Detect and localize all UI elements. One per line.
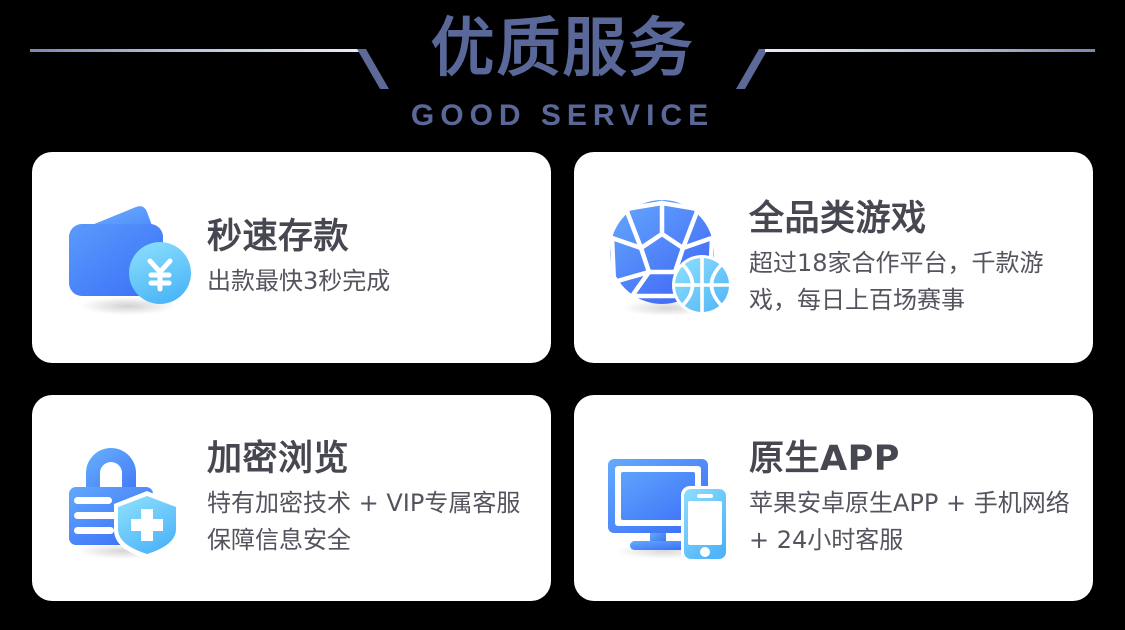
feature-card-subtitle: 出款最快3秒完成: [207, 263, 533, 300]
feature-card-encrypted-browsing[interactable]: 加密浏览 特有加密技术 + VIP专属客服保障信息安全: [32, 395, 551, 601]
feature-card-text: 加密浏览 特有加密技术 + VIP专属客服保障信息安全: [195, 437, 533, 559]
lock-shield-icon: [60, 431, 195, 566]
page-title: 优质服务: [0, 8, 1125, 90]
feature-card-grid: 秒速存款 出款最快3秒完成: [32, 152, 1093, 601]
feature-card-text: 全品类游戏 超过18家合作平台，千款游戏，每日上百场赛事: [737, 197, 1075, 319]
feature-card-title: 全品类游戏: [749, 197, 1075, 241]
monitor-phone-icon: [602, 431, 737, 566]
feature-card-native-app[interactable]: 原生APP 苹果安卓原生APP + 手机网络 + 24小时客服: [574, 395, 1093, 601]
page-header: 优质服务 GOOD SERVICE: [0, 0, 1125, 148]
feature-card-instant-deposit[interactable]: 秒速存款 出款最快3秒完成: [32, 152, 551, 363]
feature-card-subtitle: 特有加密技术 + VIP专属客服保障信息安全: [207, 485, 533, 559]
feature-card-title: 秒速存款: [207, 215, 533, 259]
feature-card-title: 原生APP: [749, 437, 1075, 481]
feature-card-subtitle: 苹果安卓原生APP + 手机网络 + 24小时客服: [749, 485, 1075, 559]
feature-card-title: 加密浏览: [207, 437, 533, 481]
feature-card-all-category-games[interactable]: 全品类游戏 超过18家合作平台，千款游戏，每日上百场赛事: [574, 152, 1093, 363]
feature-card-text: 秒速存款 出款最快3秒完成: [195, 215, 533, 300]
feature-card-subtitle: 超过18家合作平台，千款游戏，每日上百场赛事: [749, 245, 1075, 319]
wallet-yen-icon: [60, 190, 195, 325]
soccer-basketball-icon: [602, 190, 737, 325]
feature-card-text: 原生APP 苹果安卓原生APP + 手机网络 + 24小时客服: [737, 437, 1075, 559]
page-subtitle: GOOD SERVICE: [0, 98, 1125, 134]
